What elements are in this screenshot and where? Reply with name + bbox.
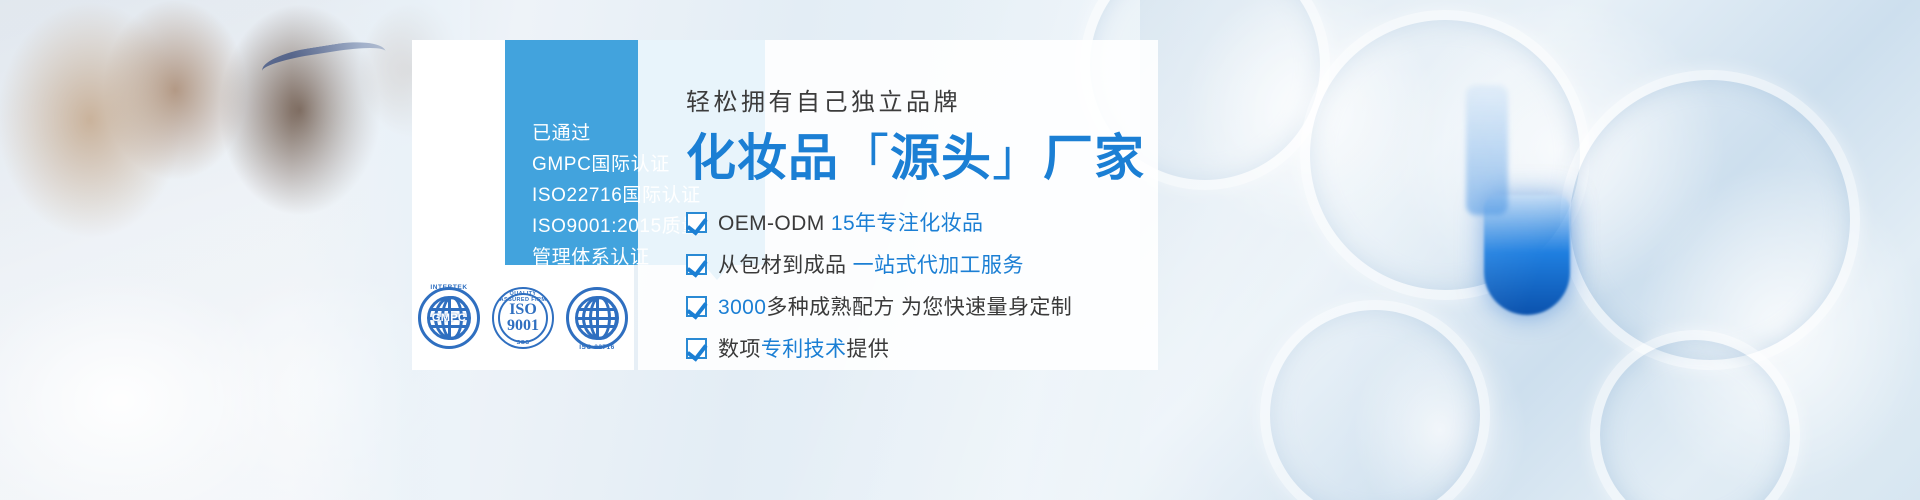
globe-icon — [566, 287, 628, 349]
sub-headline: 轻松拥有自己独立品牌 — [686, 82, 1158, 117]
laboratory-glassware-photo — [1140, 0, 1920, 500]
safety-goggles-icon — [260, 36, 389, 93]
certification-logos: INTERTEK GMPC QUALITY ASSURED FIRM ISO 9… — [418, 268, 628, 368]
headline-part-1: 化妆品 — [686, 130, 839, 186]
bullet-2-highlight: 一站式代加工服务 — [853, 254, 1024, 277]
quote-close-glyph: 」 — [992, 130, 1043, 186]
iso-label: ISO — [509, 302, 537, 318]
check-mark-icon — [686, 296, 707, 317]
headline-emphasis: 源头 — [890, 130, 992, 186]
check-mark-icon — [686, 338, 707, 359]
list-item: 从包材到成品 一站式代加工服务 — [686, 249, 1158, 279]
bullet-1-highlight: 15年专注化妆品 — [831, 212, 984, 235]
content-panel: 轻松拥有自己独立品牌 化妆品「源头」厂家 OEM-ODM 15年专注化妆品 从包… — [638, 40, 1158, 370]
list-item: 3000多种成熟配方 为您快速量身定制 — [686, 291, 1158, 321]
list-item: OEM-ODM 15年专注化妆品 — [686, 207, 1158, 237]
sgs-label: SGS — [494, 340, 552, 346]
bullet-4-plain-2: 提供 — [846, 338, 889, 361]
bullet-4-plain-1: 数项 — [718, 338, 761, 361]
headline-part-2: 厂家 — [1043, 130, 1145, 186]
iso-22716-label: ISO 22716 — [566, 344, 628, 351]
iso-9001-sgs-logo: QUALITY ASSURED FIRM ISO 9001 SGS — [492, 287, 554, 349]
iso-22716-logo: ISO 22716 — [566, 287, 628, 349]
list-item-label: 从包材到成品 一站式代加工服务 — [718, 249, 1024, 279]
check-mark-icon — [686, 254, 707, 275]
list-item-label: 3000多种成熟配方 为您快速量身定制 — [718, 291, 1072, 321]
iso-number-label: 9001 — [507, 318, 539, 334]
intertek-label: INTERTEK — [418, 284, 480, 291]
glass-tube-shape — [1560, 70, 1860, 370]
blue-liquid-vial — [1484, 195, 1570, 315]
bullet-2-plain-1: 从包材到成品 — [718, 254, 853, 277]
list-item: 数项专利技术提供 — [686, 333, 1158, 363]
bullet-1-plain-1: OEM-ODM — [718, 212, 831, 235]
main-headline: 化妆品「源头」厂家 — [686, 131, 1158, 185]
list-item-label: 数项专利技术提供 — [718, 333, 889, 363]
check-mark-icon — [686, 212, 707, 233]
gmpc-intertek-logo: INTERTEK GMPC — [418, 287, 480, 349]
bullet-3-highlight: 3000 — [718, 296, 766, 319]
list-item-label: OEM-ODM 15年专注化妆品 — [718, 207, 983, 237]
hero-banner: 已通过 GMPC国际认证 ISO22716国际认证 ISO9001:2015质量… — [0, 0, 1920, 500]
iso-seal-icon: QUALITY ASSURED FIRM ISO 9001 SGS — [492, 287, 554, 349]
gmpc-label: GMPC — [418, 312, 480, 324]
lab-scientists-photo — [0, 0, 470, 500]
bullet-3-plain-2: 多种成熟配方 为您快速量身定制 — [766, 296, 1072, 319]
quote-open-glyph: 「 — [839, 130, 890, 186]
feature-list: OEM-ODM 15年专注化妆品 从包材到成品 一站式代加工服务 3000多种成… — [686, 207, 1158, 363]
bullet-4-highlight: 专利技术 — [761, 338, 847, 361]
glass-tube-shape — [1260, 300, 1490, 500]
